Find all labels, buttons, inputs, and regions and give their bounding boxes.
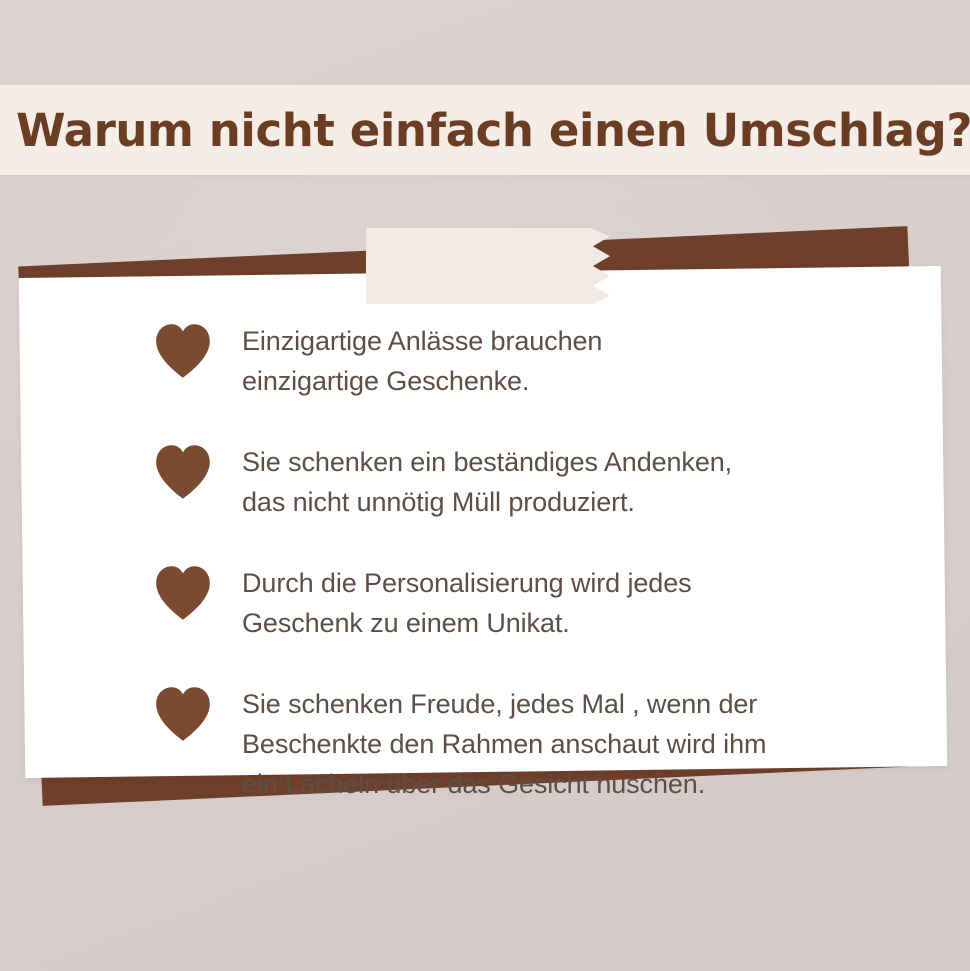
heart-icon	[150, 560, 216, 626]
heart-icon	[150, 439, 216, 505]
page-title: Warum nicht einfach einen Umschlag?	[0, 108, 970, 153]
list-item: Sie schenken Freude, jedes Mal , wenn de…	[150, 679, 870, 804]
list-item-label: Einzigartige Anlässe brauchen einzigarti…	[242, 316, 602, 401]
washi-tape	[366, 228, 610, 304]
benefits-list: Einzigartige Anlässe brauchen einzigarti…	[150, 316, 870, 804]
list-item: Sie schenken ein beständiges Andenken, d…	[150, 437, 870, 522]
title-banner: Warum nicht einfach einen Umschlag?	[0, 85, 970, 175]
list-item-label: Sie schenken ein beständiges Andenken, d…	[242, 437, 732, 522]
list-item: Einzigartige Anlässe brauchen einzigarti…	[150, 316, 870, 401]
list-item-label: Durch die Personalisierung wird jedes Ge…	[242, 558, 692, 643]
heart-icon	[150, 318, 216, 384]
list-item: Durch die Personalisierung wird jedes Ge…	[150, 558, 870, 643]
poster-canvas: Warum nicht einfach einen Umschlag? Einz…	[0, 0, 970, 971]
heart-icon	[150, 681, 216, 747]
list-item-label: Sie schenken Freude, jedes Mal , wenn de…	[242, 679, 766, 804]
